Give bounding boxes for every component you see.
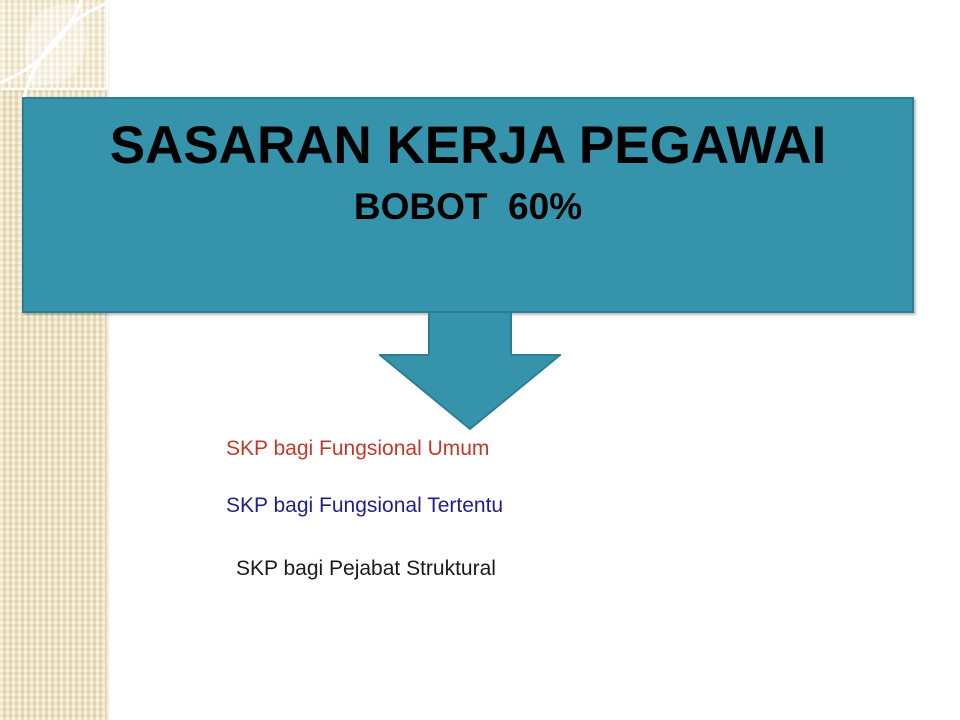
page-subtitle: BOBOT 60% — [24, 186, 912, 229]
down-arrow-icon — [379, 311, 561, 431]
list-item: SKP bagi Pejabat Struktural — [236, 556, 496, 581]
list-item: SKP bagi Fungsional Tertentu — [226, 493, 503, 518]
slide-canvas: SASARAN KERJA PEGAWAI BOBOT 60% SKP bagi… — [0, 0, 960, 720]
list-item: SKP bagi Fungsional Umum — [226, 436, 489, 461]
title-banner: SASARAN KERJA PEGAWAI BOBOT 60% — [22, 97, 914, 313]
page-title: SASARAN KERJA PEGAWAI — [24, 117, 912, 174]
